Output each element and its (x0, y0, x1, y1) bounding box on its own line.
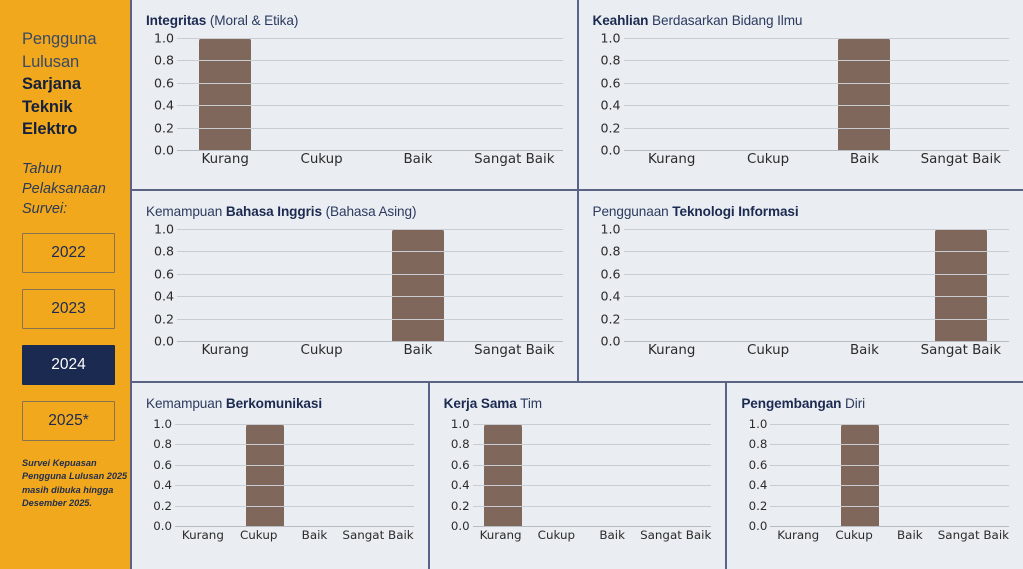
plot (624, 229, 1010, 341)
gridline (624, 341, 1010, 342)
gridline (175, 444, 414, 445)
year-button-2024[interactable]: 2024 (22, 345, 115, 385)
page-title: Pengguna Lulusan Sarjana Teknik Elektro (22, 28, 116, 141)
x-axis-tick-label: Baik (816, 152, 912, 167)
gridline (770, 465, 1009, 466)
chart-panel-bahasa-inggris: Kemampuan Bahasa Inggris (Bahasa Asing) … (132, 191, 577, 381)
page-title-line-5: Elektro (22, 118, 116, 141)
gridline (473, 526, 712, 527)
y-axis-tick-label: 0.4 (451, 478, 470, 492)
y-axis-tick-label: 0.4 (749, 478, 768, 492)
bar-cell (624, 229, 720, 341)
gridline (175, 485, 414, 486)
chart-title-rest: (Moral & Etika) (206, 13, 298, 28)
y-axis-tick-label: 0.8 (451, 437, 470, 451)
bar-cell (652, 424, 712, 526)
page-title-line-2: Lulusan (22, 51, 116, 74)
x-axis-tick-label: Baik (584, 528, 640, 542)
bar-cell (720, 229, 816, 341)
x-axis-tick-label: Sangat Baik (466, 343, 562, 358)
bar-cell (913, 229, 1009, 341)
y-axis-tick-label: 0.2 (600, 120, 620, 135)
bar-cell (466, 38, 562, 150)
chart-row-2: Kemampuan Bahasa Inggris (Bahasa Asing) … (132, 191, 1023, 381)
chart-plot-area: 1.00.80.60.40.20.0 (146, 424, 414, 526)
bar-series (624, 38, 1010, 150)
year-button-list: 2022 2023 2024 2025* (22, 233, 116, 441)
y-axis-tick-label: 0.8 (154, 53, 174, 68)
y-axis-tick-label: 1.0 (600, 222, 620, 237)
y-axis-tick-label: 0.6 (600, 75, 620, 90)
bar[interactable] (199, 38, 251, 150)
chart-title-prefix: Penggunaan (593, 204, 673, 219)
dashboard-root: Pengguna Lulusan Sarjana Teknik Elektro … (0, 0, 1023, 569)
y-axis-tick-label: 0.4 (600, 289, 620, 304)
year-button-2022[interactable]: 2022 (22, 233, 115, 273)
bar-cell (913, 38, 1009, 150)
x-axis-tick-label: Sangat Baik (342, 528, 413, 542)
y-axis-tick-label: 0.8 (749, 437, 768, 451)
sidebar-footnote: Survei Kepuasan Pengguna Lulusan 2025 ma… (22, 457, 130, 511)
y-axis-tick-label: 1.0 (154, 222, 174, 237)
gridline (624, 128, 1010, 129)
chart-plot-area: 1.00.80.60.40.20.0 (741, 424, 1009, 526)
y-axis-tick-label: 0.2 (153, 499, 172, 513)
gridline (177, 150, 563, 151)
gridline (624, 150, 1010, 151)
gridline (624, 105, 1010, 106)
bar-series (770, 424, 1009, 526)
gridline (473, 485, 712, 486)
y-axis-tick-label: 0.8 (600, 53, 620, 68)
bar[interactable] (392, 229, 444, 341)
y-axis: 1.00.80.60.40.20.0 (741, 424, 770, 526)
chart-title: Keahlian Berdasarkan Bidang Ilmu (593, 13, 1010, 29)
chart-title-rest: Berdasarkan Bidang Ilmu (648, 13, 802, 28)
x-axis-tick-label: Cukup (231, 528, 287, 542)
chart-title: Pengembangan Diri (741, 396, 1009, 412)
x-axis-tick-label: Kurang (177, 152, 273, 167)
chart-row-3: Kemampuan Berkomunikasi 1.00.80.60.40.20… (132, 383, 1023, 569)
gridline (175, 424, 414, 425)
bar[interactable] (246, 424, 284, 526)
bar-series (175, 424, 414, 526)
gridline (177, 319, 563, 320)
chart-title: Integritas (Moral & Etika) (146, 13, 563, 29)
y-axis-tick-label: 0.4 (154, 289, 174, 304)
y-axis-tick-label: 0.0 (600, 334, 620, 349)
plot (177, 38, 563, 150)
chart-plot-area: 1.00.80.60.40.20.0 (146, 38, 563, 150)
chart-panel-integritas: Integritas (Moral & Etika) 1.00.80.60.40… (132, 0, 577, 189)
gridline (177, 105, 563, 106)
bar-cell (770, 424, 830, 526)
bar-series (473, 424, 712, 526)
bar[interactable] (484, 424, 522, 526)
bar-cell (816, 38, 912, 150)
x-axis-tick-label: Sangat Baik (913, 343, 1009, 358)
bar-series (624, 229, 1010, 341)
chart-panel-teknologi-informasi: Penggunaan Teknologi Informasi 1.00.80.6… (579, 191, 1023, 381)
bar[interactable] (838, 38, 890, 150)
year-button-2025[interactable]: 2025* (22, 401, 115, 441)
x-axis: KurangCukupBaikSangat Baik (175, 528, 414, 542)
bar-cell (890, 424, 950, 526)
chart-title-bold: Berkomunikasi (226, 396, 322, 411)
bar-cell (816, 229, 912, 341)
x-axis-tick-label: Cukup (273, 343, 369, 358)
x-axis-tick-label: Baik (370, 152, 466, 167)
x-axis-tick-label: Sangat Baik (913, 152, 1009, 167)
y-axis-tick-label: 0.2 (451, 499, 470, 513)
y-axis-tick-label: 0.4 (600, 98, 620, 113)
year-selector-label-line-2: Pelaksanaan (22, 179, 116, 199)
y-axis-tick-label: 0.6 (154, 75, 174, 90)
x-axis-tick-label: Kurang (770, 528, 826, 542)
page-title-line-3: Sarjana (22, 73, 116, 96)
year-selector-label-line-1: Tahun (22, 159, 116, 179)
chart-panel-pengembangan-diri: Pengembangan Diri 1.00.80.60.40.20.0 Kur… (727, 383, 1023, 569)
x-axis-tick-label: Baik (882, 528, 938, 542)
y-axis: 1.00.80.60.40.20.0 (593, 229, 624, 341)
chart-title-bold: Teknologi Informasi (672, 204, 798, 219)
y-axis-tick-label: 0.2 (600, 311, 620, 326)
gridline (770, 485, 1009, 486)
gridline (770, 444, 1009, 445)
y-axis-tick-label: 0.2 (154, 120, 174, 135)
chart-plot-area: 1.00.80.60.40.20.0 (146, 229, 563, 341)
x-axis-tick-label: Baik (370, 343, 466, 358)
x-axis: KurangCukupBaikSangat Baik (177, 152, 563, 167)
gridline (473, 506, 712, 507)
bar-cell (624, 38, 720, 150)
chart-title-bold: Kerja Sama (444, 396, 517, 411)
bar-cell (273, 229, 369, 341)
gridline (177, 251, 563, 252)
plot (175, 424, 414, 526)
gridline (177, 38, 563, 39)
x-axis: KurangCukupBaikSangat Baik (624, 152, 1010, 167)
page-title-line-4: Teknik (22, 96, 116, 119)
gridline (177, 341, 563, 342)
y-axis-tick-label: 1.0 (153, 417, 172, 431)
gridline (624, 296, 1010, 297)
x-axis-tick-label: Cukup (273, 152, 369, 167)
y-axis-tick-label: 0.0 (154, 334, 174, 349)
chart-row-1: Integritas (Moral & Etika) 1.00.80.60.40… (132, 0, 1023, 189)
bar-cell (473, 424, 533, 526)
bar-series (177, 229, 563, 341)
y-axis-tick-label: 0.6 (153, 458, 172, 472)
y-axis: 1.00.80.60.40.20.0 (146, 229, 177, 341)
y-axis-tick-label: 0.6 (600, 266, 620, 281)
x-axis-tick-label: Kurang (473, 528, 529, 542)
gridline (473, 444, 712, 445)
chart-title-bold: Bahasa Inggris (226, 204, 322, 219)
gridline (770, 424, 1009, 425)
y-axis: 1.00.80.60.40.20.0 (593, 38, 624, 150)
bar-cell (532, 424, 592, 526)
bar-cell (830, 424, 890, 526)
chart-title-prefix: Kemampuan (146, 204, 226, 219)
year-selector-label-line-3: Survei: (22, 199, 116, 219)
chart-title-bold: Pengembangan (741, 396, 841, 411)
bar-cell (370, 38, 466, 150)
y-axis-tick-label: 1.0 (154, 31, 174, 46)
x-axis-tick-label: Sangat Baik (466, 152, 562, 167)
chart-title-bold: Integritas (146, 13, 206, 28)
x-axis-tick-label: Kurang (175, 528, 231, 542)
y-axis: 1.00.80.60.40.20.0 (146, 424, 175, 526)
bar-cell (177, 229, 273, 341)
plot (624, 38, 1010, 150)
x-axis-tick-label: Sangat Baik (640, 528, 711, 542)
gridline (473, 465, 712, 466)
bar-cell (592, 424, 652, 526)
y-axis-tick-label: 1.0 (749, 417, 768, 431)
bar-cell (235, 424, 295, 526)
x-axis-tick-label: Sangat Baik (938, 528, 1009, 542)
x-axis-tick-label: Cukup (826, 528, 882, 542)
chart-title-prefix: Kemampuan (146, 396, 226, 411)
gridline (175, 526, 414, 527)
bar[interactable] (841, 424, 879, 526)
chart-title-bold: Keahlian (593, 13, 649, 28)
y-axis-tick-label: 1.0 (451, 417, 470, 431)
bar-cell (720, 38, 816, 150)
gridline (175, 465, 414, 466)
bar-cell (294, 424, 354, 526)
gridline (177, 274, 563, 275)
y-axis-tick-label: 1.0 (600, 31, 620, 46)
chart-panel-berkomunikasi: Kemampuan Berkomunikasi 1.00.80.60.40.20… (132, 383, 428, 569)
y-axis-tick-label: 0.8 (154, 244, 174, 259)
gridline (473, 424, 712, 425)
y-axis-tick-label: 0.0 (153, 519, 172, 533)
bar-cell (273, 38, 369, 150)
gridline (177, 83, 563, 84)
gridline (177, 60, 563, 61)
chart-plot-area: 1.00.80.60.40.20.0 (444, 424, 712, 526)
y-axis-tick-label: 0.6 (451, 458, 470, 472)
x-axis-tick-label: Cukup (720, 343, 816, 358)
plot (177, 229, 563, 341)
y-axis-tick-label: 0.0 (451, 519, 470, 533)
bar-cell (175, 424, 235, 526)
gridline (770, 506, 1009, 507)
bar[interactable] (935, 229, 987, 341)
y-axis-tick-label: 0.2 (749, 499, 768, 513)
y-axis-tick-label: 0.8 (153, 437, 172, 451)
chart-panel-keahlian: Keahlian Berdasarkan Bidang Ilmu 1.00.80… (579, 0, 1023, 189)
gridline (624, 83, 1010, 84)
y-axis: 1.00.80.60.40.20.0 (146, 38, 177, 150)
y-axis-tick-label: 0.6 (749, 458, 768, 472)
bar-cell (370, 229, 466, 341)
gridline (624, 251, 1010, 252)
gridline (177, 229, 563, 230)
gridline (624, 274, 1010, 275)
bar-cell (949, 424, 1009, 526)
gridline (624, 319, 1010, 320)
y-axis-tick-label: 0.6 (154, 266, 174, 281)
x-axis-tick-label: Baik (287, 528, 343, 542)
y-axis-tick-label: 0.0 (154, 143, 174, 158)
chart-title: Kerja Sama Tim (444, 396, 712, 412)
x-axis: KurangCukupBaikSangat Baik (177, 343, 563, 358)
chart-plot-area: 1.00.80.60.40.20.0 (593, 38, 1010, 150)
sidebar: Pengguna Lulusan Sarjana Teknik Elektro … (0, 0, 130, 569)
y-axis-tick-label: 0.0 (749, 519, 768, 533)
year-selector-label: Tahun Pelaksanaan Survei: (22, 159, 116, 219)
x-axis: KurangCukupBaikSangat Baik (770, 528, 1009, 542)
chart-title: Penggunaan Teknologi Informasi (593, 204, 1010, 220)
plot (770, 424, 1009, 526)
y-axis-tick-label: 0.4 (153, 478, 172, 492)
chart-title-rest: Tim (517, 396, 542, 411)
x-axis: KurangCukupBaikSangat Baik (473, 528, 712, 542)
year-button-2023[interactable]: 2023 (22, 289, 115, 329)
gridline (770, 526, 1009, 527)
chart-grid: Integritas (Moral & Etika) 1.00.80.60.40… (130, 0, 1023, 569)
y-axis: 1.00.80.60.40.20.0 (444, 424, 473, 526)
x-axis-tick-label: Kurang (177, 343, 273, 358)
gridline (624, 229, 1010, 230)
chart-title: Kemampuan Berkomunikasi (146, 396, 414, 412)
plot (473, 424, 712, 526)
bar-cell (354, 424, 414, 526)
gridline (624, 38, 1010, 39)
bar-series (177, 38, 563, 150)
y-axis-tick-label: 0.4 (154, 98, 174, 113)
chart-title: Kemampuan Bahasa Inggris (Bahasa Asing) (146, 204, 563, 220)
x-axis-tick-label: Cukup (528, 528, 584, 542)
chart-plot-area: 1.00.80.60.40.20.0 (593, 229, 1010, 341)
y-axis-tick-label: 0.0 (600, 143, 620, 158)
gridline (177, 128, 563, 129)
y-axis-tick-label: 0.8 (600, 244, 620, 259)
bar-cell (177, 38, 273, 150)
chart-panel-kerja-sama-tim: Kerja Sama Tim 1.00.80.60.40.20.0 Kurang… (430, 383, 726, 569)
chart-title-rest: (Bahasa Asing) (322, 204, 416, 219)
x-axis-tick-label: Kurang (624, 152, 720, 167)
chart-title-rest: Diri (841, 396, 865, 411)
x-axis-tick-label: Cukup (720, 152, 816, 167)
gridline (177, 296, 563, 297)
gridline (175, 506, 414, 507)
y-axis-tick-label: 0.2 (154, 311, 174, 326)
x-axis-tick-label: Baik (816, 343, 912, 358)
bar-cell (466, 229, 562, 341)
x-axis: KurangCukupBaikSangat Baik (624, 343, 1010, 358)
x-axis-tick-label: Kurang (624, 343, 720, 358)
page-title-line-1: Pengguna (22, 28, 116, 51)
gridline (624, 60, 1010, 61)
